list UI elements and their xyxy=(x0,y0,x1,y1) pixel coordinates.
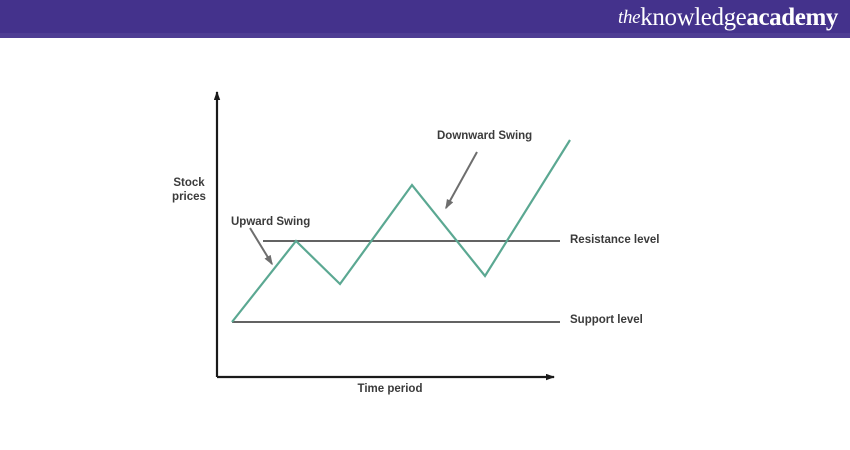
brand-logo-knowledge: knowledge xyxy=(640,4,746,32)
brand-logo-academy: academy xyxy=(746,4,838,32)
brand-logo[interactable]: theknowledgeacademy xyxy=(618,2,838,33)
brand-logo-the: the xyxy=(618,7,640,29)
stock-price-line xyxy=(232,140,570,322)
downward-swing-label: Downward Swing xyxy=(437,130,532,142)
upward-swing-label: Upward Swing xyxy=(231,216,310,228)
downward-swing-arrow xyxy=(446,152,477,208)
upward-swing-arrow xyxy=(250,228,272,264)
stock-chart: Stock prices Time period Upward Swing Do… xyxy=(0,38,850,450)
x-axis-label: Time period xyxy=(320,382,460,396)
support-level-label: Support level xyxy=(570,314,643,326)
page-root: theknowledgeacademy xyxy=(0,0,850,450)
y-axis-label: Stock prices xyxy=(160,176,218,204)
resistance-level-label: Resistance level xyxy=(570,234,660,246)
